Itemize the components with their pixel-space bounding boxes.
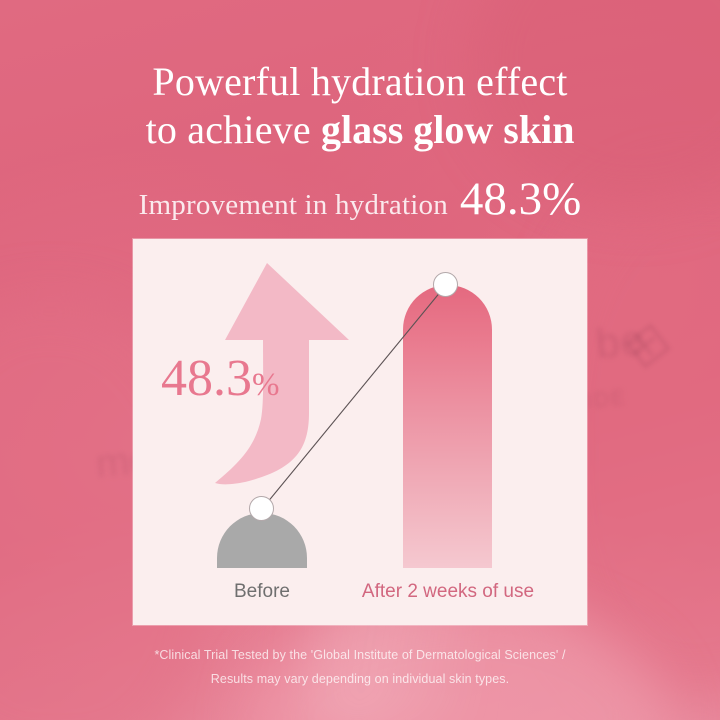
subheadline-value: 48.3% bbox=[460, 173, 581, 225]
subheadline-label: Improvement in hydration bbox=[139, 189, 448, 221]
headline: Powerful hydration effect to achieve gla… bbox=[0, 58, 720, 153]
axis-label-before: Before bbox=[182, 581, 342, 603]
axis-label-after: After 2 weeks of use bbox=[348, 581, 548, 603]
chart-panel: 48.3% Before After 2 weeks of use bbox=[133, 239, 587, 625]
headline-line-2-prefix: to achieve bbox=[146, 107, 321, 152]
data-point-marker-before bbox=[249, 496, 274, 521]
footnote-line-2: Results may vary depending on individual… bbox=[0, 667, 720, 691]
headline-line-2: to achieve glass glow skin bbox=[0, 106, 720, 153]
bar-before bbox=[217, 513, 307, 568]
data-point-marker-after bbox=[433, 272, 458, 297]
footnote-disclaimer: *Clinical Trial Tested by the 'Global In… bbox=[0, 643, 720, 692]
improvement-value-annotation: 48.3% bbox=[161, 353, 280, 405]
promo-poster: be IDE me Powerful hydration effect to a… bbox=[0, 0, 720, 720]
subheadline: Improvement in hydration48.3% bbox=[0, 172, 720, 226]
improvement-value-number: 48.3 bbox=[161, 350, 252, 407]
bar-after bbox=[403, 285, 492, 568]
footnote-line-1: *Clinical Trial Tested by the 'Global In… bbox=[0, 643, 720, 667]
improvement-value-unit: % bbox=[252, 367, 280, 403]
chart-plot-area: 48.3% Before After 2 weeks of use bbox=[133, 239, 587, 625]
headline-emphasis: glass glow skin bbox=[321, 107, 574, 152]
background-ingredient-glyph-right: IDE bbox=[585, 386, 628, 414]
headline-line-1: Powerful hydration effect bbox=[0, 58, 720, 105]
